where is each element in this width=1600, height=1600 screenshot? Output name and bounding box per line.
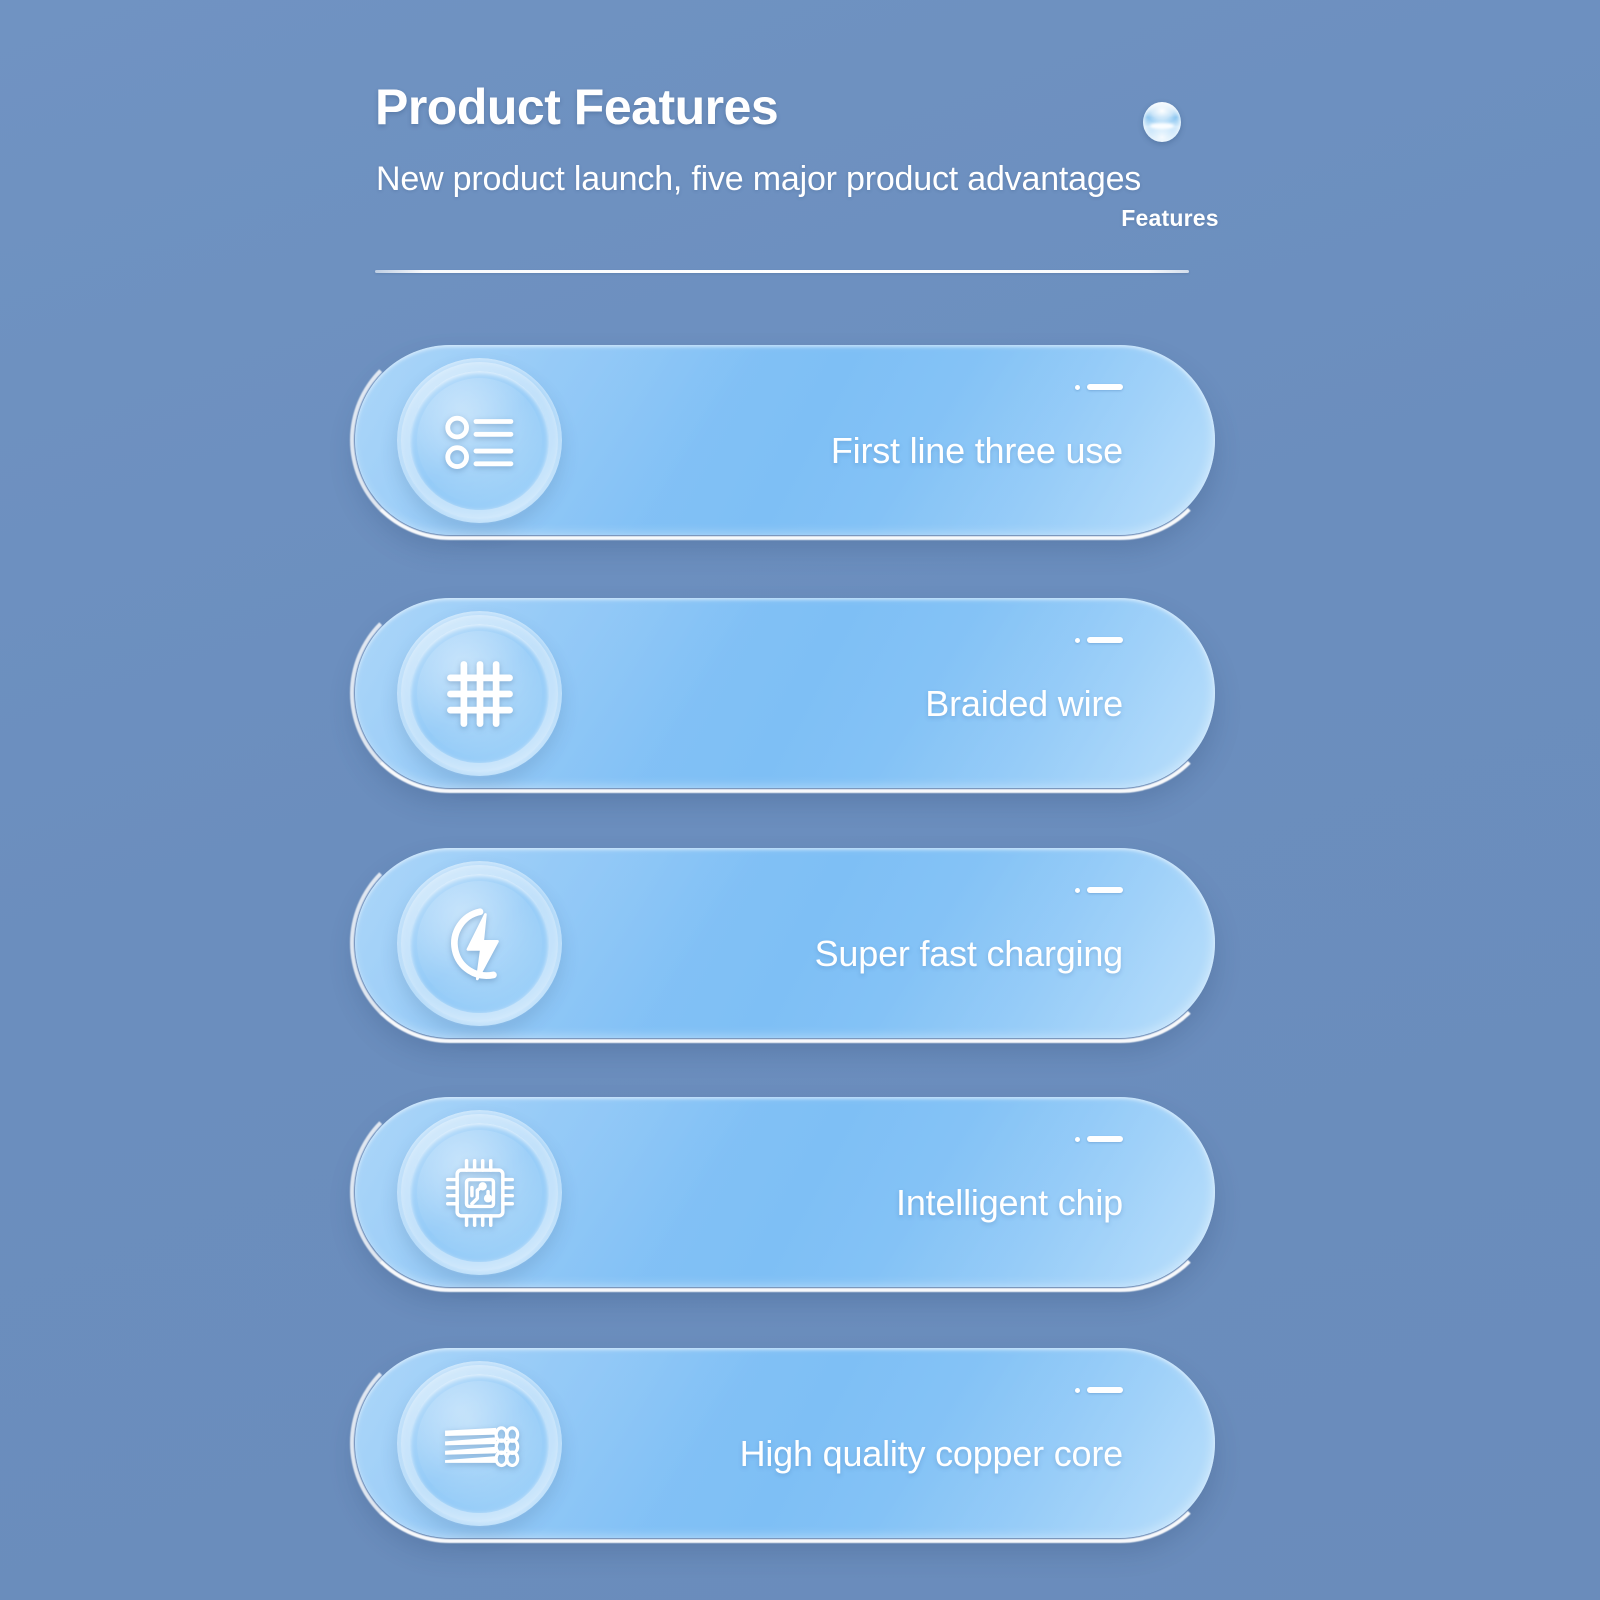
woven-mesh-icon [437,651,523,737]
feature-icon-badge [397,861,562,1026]
deco-dot [1075,385,1080,390]
deco-dot [1075,1137,1080,1142]
feature-icon-badge [397,1110,562,1275]
copper-wire-bundle-icon [437,1401,523,1487]
deco-dot [1075,1388,1080,1393]
product-features-page: Product Features New product launch, fiv… [0,0,1600,1600]
card-text-block: Super fast charging [815,911,1123,975]
feature-card-high-quality-copper-core[interactable]: High quality copper core [355,1348,1215,1538]
feature-label: Super fast charging [815,933,1123,975]
list-lines-icon [437,398,523,484]
feature-label: High quality copper core [740,1433,1123,1475]
card-decoration [1075,1136,1123,1142]
card-decoration [1075,384,1123,390]
quick-charge-bolt-icon [437,901,523,987]
feature-card-braided-wire[interactable]: Braided wire [355,598,1215,788]
deco-dash [1087,1387,1123,1393]
deco-dash [1087,887,1123,893]
card-text-block: Intelligent chip [896,1160,1123,1224]
feature-label: First line three use [831,430,1123,472]
card-decoration [1075,637,1123,643]
deco-dot [1075,638,1080,643]
card-text-block: High quality copper core [740,1411,1123,1475]
cpu-chip-icon [437,1150,523,1236]
feature-label: Braided wire [925,683,1123,725]
card-decoration [1075,887,1123,893]
feature-card-list: First line three use Braided wir [0,0,1600,1600]
feature-icon-badge [397,611,562,776]
feature-icon-badge [397,1361,562,1526]
deco-dash [1087,1136,1123,1142]
feature-card-super-fast-charging[interactable]: Super fast charging [355,848,1215,1038]
deco-dash [1087,637,1123,643]
feature-icon-badge [397,358,562,523]
card-decoration [1075,1387,1123,1393]
card-text-block: First line three use [831,408,1123,472]
deco-dash [1087,384,1123,390]
card-text-block: Braided wire [925,661,1123,725]
deco-dot [1075,888,1080,893]
feature-card-intelligent-chip[interactable]: Intelligent chip [355,1097,1215,1287]
feature-label: Intelligent chip [896,1182,1123,1224]
feature-card-first-line-three-use[interactable]: First line three use [355,345,1215,535]
